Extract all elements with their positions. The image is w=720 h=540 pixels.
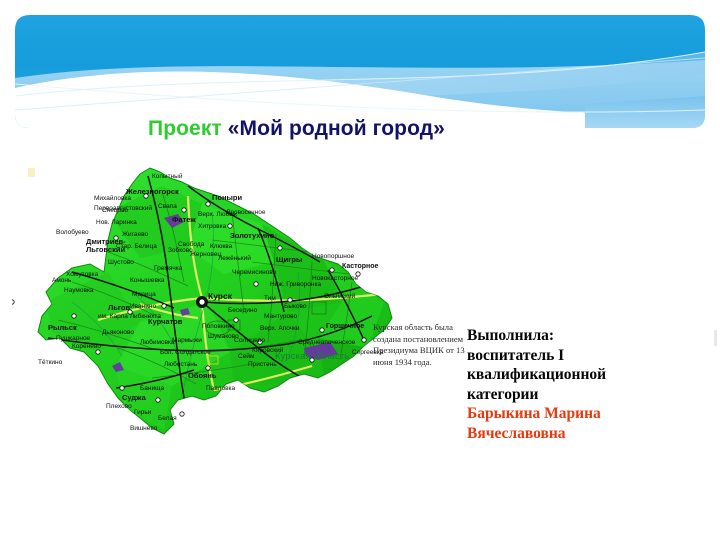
author-role-line-2: воспитатель I	[467, 346, 705, 366]
svg-text:Нов. Ларинка: Нов. Ларинка	[96, 219, 137, 226]
svg-text:Банища: Банища	[140, 385, 164, 392]
svg-text:Касторное: Касторное	[342, 263, 379, 270]
svg-text:Щигры: Щигры	[276, 255, 302, 264]
svg-text:Суджа: Суджа	[122, 393, 147, 402]
svg-text:Иванино: Иванино	[130, 303, 156, 310]
svg-text:Обоянь: Обоянь	[188, 371, 217, 380]
svg-text:Горшечное: Горшечное	[326, 323, 364, 330]
svg-text:Дьяконово: Дьяконово	[102, 329, 134, 336]
svg-text:Стар. Белица: Стар. Белица	[116, 243, 157, 250]
svg-text:Бол. Солдатское: Бол. Солдатское	[160, 349, 211, 356]
kursk-oblast-map-image: Курск Железногорск Дмитриев- Льговский Ф…	[12, 152, 462, 452]
svg-text:Курск: Курск	[208, 291, 233, 301]
author-name-line-2: Вячеславовна	[467, 424, 705, 444]
svg-text:Копытный: Копытный	[152, 172, 183, 180]
svg-text:Железногорск: Железногорск	[125, 187, 179, 196]
svg-text:Свобода: Свобода	[178, 240, 205, 248]
svg-text:Конышевка: Конышевка	[130, 277, 165, 284]
svg-text:Жерновец: Жерновец	[190, 251, 221, 258]
svg-text:Волобуево: Волобуево	[56, 228, 89, 236]
svg-text:Шустово: Шустово	[108, 259, 134, 266]
svg-text:Шумаково: Шумаково	[208, 333, 239, 340]
svg-text:Золотухино: Золотухино	[230, 231, 275, 240]
author-role-line-3: квалификационной	[467, 365, 705, 385]
svg-text:Амонь: Амонь	[52, 277, 72, 284]
svg-text:Олымский: Олымский	[324, 292, 356, 300]
svg-text:Верх. Апочки: Верх. Апочки	[260, 325, 300, 332]
svg-text:Дровосечное: Дровосечное	[226, 209, 266, 216]
svg-text:Тим: Тим	[264, 295, 276, 302]
map-figure-kursk-oblast: Курск Железногорск Дмитриев- Льговский Ф…	[12, 152, 462, 452]
title-phrase-navy: «Мой родной город»	[228, 117, 445, 140]
svg-text:Клюква: Клюква	[210, 243, 233, 250]
svg-text:Коренево: Коренево	[72, 343, 101, 350]
svg-text:Быково: Быково	[284, 303, 307, 310]
svg-text:Поповкино: Поповкино	[202, 323, 235, 330]
svg-text:Любостань: Любостань	[164, 360, 198, 368]
author-role-line-4: категории	[467, 385, 705, 405]
title-word-green: Проект	[148, 117, 222, 140]
svg-text:Плехово: Плехово	[106, 403, 132, 410]
capital-marker	[196, 296, 208, 308]
svg-text:Жигаево: Жигаево	[122, 231, 148, 238]
svg-text:Павловка: Павловка	[206, 385, 236, 392]
svg-text:Рыльск: Рыльск	[48, 323, 77, 332]
presentation-slide: Проект «Мой родной город»	[0, 0, 720, 540]
svg-text:Гремячка: Гремячка	[154, 265, 183, 272]
scan-edge-mark	[714, 330, 717, 346]
svg-text:Наумовка: Наумовка	[64, 287, 94, 294]
svg-text:Пушкарное: Пушкарное	[56, 335, 91, 342]
svg-text:Пристень: Пристень	[248, 361, 277, 368]
map-region-label: Курская область	[275, 351, 349, 362]
svg-text:Черемисиново: Черемисиново	[232, 269, 277, 276]
svg-text:Марица: Марица	[132, 291, 156, 298]
decorative-header-banner	[0, 0, 720, 132]
svg-text:Тёткино: Тёткино	[38, 359, 63, 366]
svg-text:Сейм: Сейм	[238, 352, 255, 360]
author-role-line-1: Выполнила:	[467, 326, 705, 346]
svg-text:Новопоршное: Новопоршное	[312, 253, 354, 260]
author-credits: Выполнила: воспитатель I квалификационно…	[467, 326, 705, 443]
svg-text:Вишнево: Вишнево	[130, 425, 158, 432]
svg-text:Поныри: Поныри	[212, 193, 242, 202]
svg-text:Гирьи: Гирьи	[134, 409, 152, 416]
svg-text:Мармыжи: Мармыжи	[172, 337, 202, 344]
svg-text:Первоавгустовский: Первоавгустовский	[94, 204, 152, 212]
svg-text:Среднеапоченское: Среднеапоченское	[298, 339, 356, 346]
map-history-note: Курская область была создана постановлен…	[373, 322, 471, 368]
svg-text:им. Карла Либкнехта: им. Карла Либкнехта	[98, 312, 161, 320]
svg-text:Мантурово: Мантурово	[264, 313, 298, 320]
scan-artifact	[28, 168, 35, 177]
author-name-line-1: Барыкина Марина	[467, 404, 705, 424]
svg-text:Лежёнький: Лежёнький	[218, 254, 251, 262]
svg-text:Любимовка: Любимовка	[140, 338, 175, 346]
svg-text:Фатеж: Фатеж	[172, 215, 196, 224]
svg-text:Михайловка: Михайловка	[94, 194, 131, 202]
svg-text:Беседино: Беседино	[228, 307, 258, 314]
svg-text:Ниж. Гриворонка: Ниж. Гриворонка	[270, 281, 321, 288]
page-title: Проект «Мой родной город»	[148, 117, 668, 141]
svg-text:Свапа: Свапа	[158, 203, 177, 210]
svg-text:Льгов: Льгов	[108, 303, 130, 312]
svg-text:Хитровка: Хитровка	[198, 223, 227, 230]
svg-text:Белая: Белая	[158, 415, 177, 422]
